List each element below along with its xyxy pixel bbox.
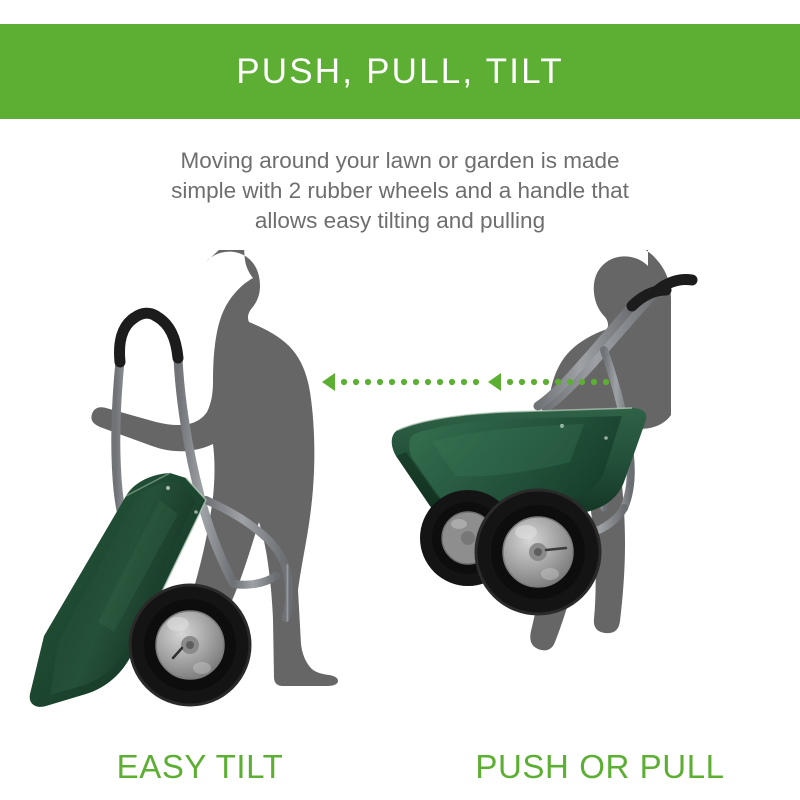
arrow-left-icon-1 (322, 373, 335, 391)
wheel-tilted (130, 585, 250, 705)
illustration-stage (0, 250, 800, 720)
caption-push-or-pull: PUSH OR PULL (440, 745, 760, 789)
caption-easy-tilt: EASY TILT (40, 745, 360, 789)
subtitle-line-3: allows easy tilting and pulling (0, 206, 800, 236)
illustration-push-or-pull (380, 250, 800, 720)
subtitle-block: Moving around your lawn or garden is mad… (0, 146, 800, 236)
wheel-front-level (476, 490, 600, 614)
handle-grips-tilted (120, 313, 178, 362)
header-banner: PUSH, PULL, TILT (0, 24, 800, 119)
illustration-easy-tilt (10, 250, 370, 720)
page-title: PUSH, PULL, TILT (236, 52, 564, 92)
arrow-left-icon-2 (488, 373, 501, 391)
subtitle-line-1: Moving around your lawn or garden is mad… (0, 146, 800, 176)
dotted-arrow-divider (322, 370, 612, 394)
subtitle-line-2: simple with 2 rubber wheels and a handle… (0, 176, 800, 206)
